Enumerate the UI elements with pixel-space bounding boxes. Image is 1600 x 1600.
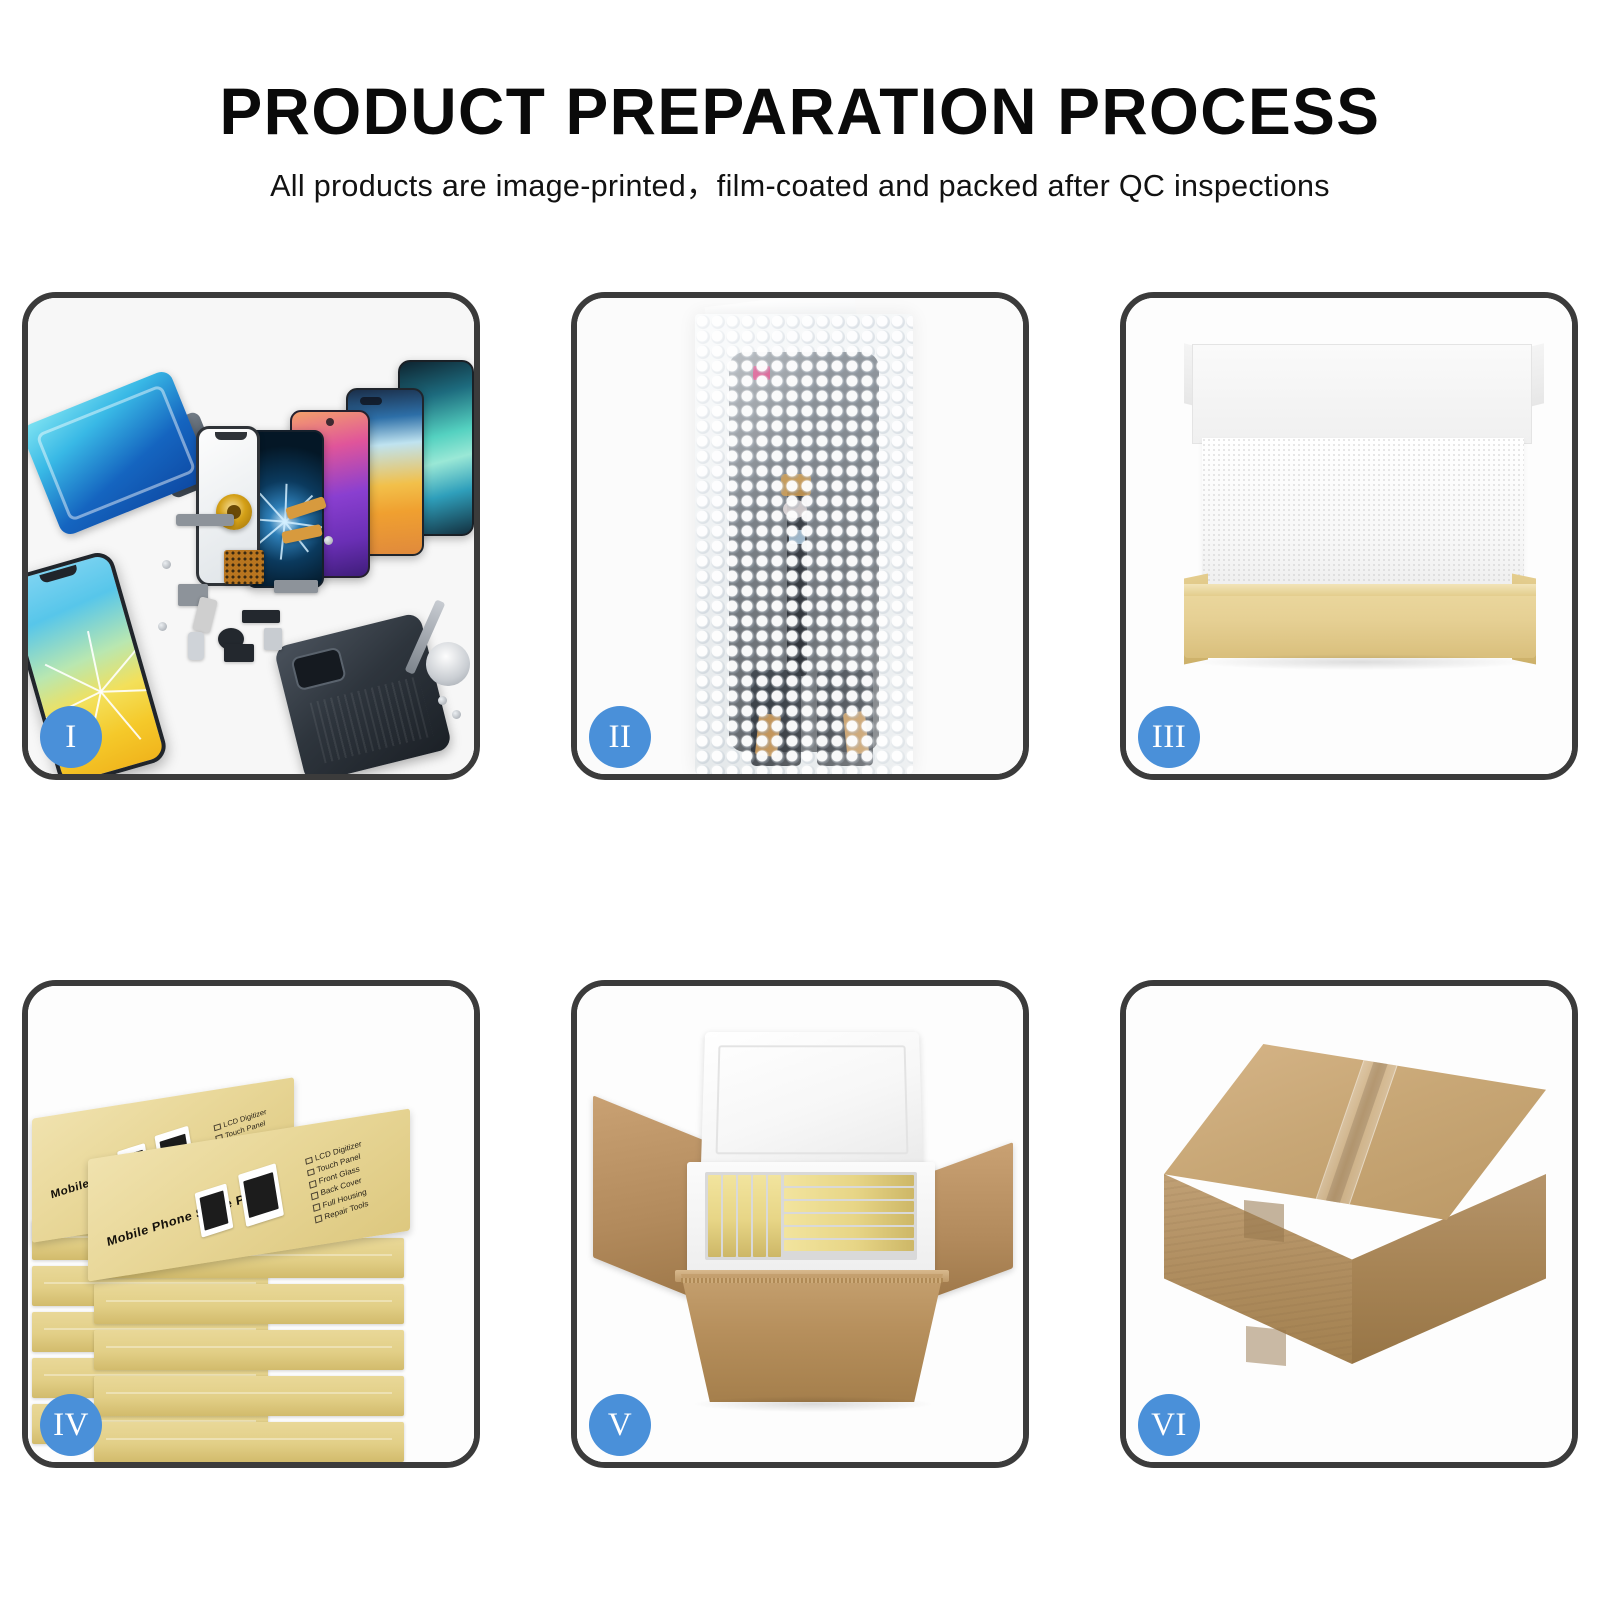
drop-shadow bbox=[695, 1396, 931, 1412]
packed-box bbox=[768, 1175, 781, 1257]
packed-box bbox=[784, 1240, 914, 1251]
step-badge-2: II bbox=[589, 706, 651, 768]
step-badge-6: VI bbox=[1138, 1394, 1200, 1456]
earpiece-speaker-part bbox=[176, 514, 234, 526]
panel-5-image bbox=[577, 986, 1023, 1462]
phone-thumbnail bbox=[238, 1163, 284, 1227]
plastic-sheen bbox=[695, 314, 913, 774]
sim-tray bbox=[188, 632, 204, 660]
adhesive-frame-sticker bbox=[28, 368, 212, 537]
retail-box-edge bbox=[94, 1330, 404, 1370]
screw bbox=[162, 560, 171, 569]
connector-part bbox=[264, 628, 282, 650]
packed-box bbox=[723, 1175, 736, 1257]
screw bbox=[158, 622, 167, 631]
kraft-box-rim bbox=[1184, 584, 1536, 596]
step-badge-1: I bbox=[40, 706, 102, 768]
packed-box bbox=[708, 1175, 721, 1257]
panel-4-image: Mobile Phone Spare Parts LCD Digitizer T… bbox=[28, 986, 474, 1462]
stacked-retail-boxes-illustration: Mobile Phone Spare Parts LCD Digitizer T… bbox=[28, 986, 474, 1462]
box-lid-back bbox=[1192, 344, 1532, 444]
crack-lines bbox=[285, 521, 286, 522]
process-step-panel-4[interactable]: Mobile Phone Spare Parts LCD Digitizer T… bbox=[22, 980, 480, 1468]
packed-boxes-vertical bbox=[708, 1175, 781, 1257]
corrugation-edge bbox=[681, 1278, 943, 1283]
packed-boxes-horizontal bbox=[784, 1175, 914, 1257]
bubble-wrapped-part-illustration bbox=[577, 298, 1023, 774]
packed-box bbox=[784, 1188, 914, 1199]
retail-box-edge bbox=[94, 1284, 404, 1324]
screw bbox=[438, 696, 447, 705]
packed-box bbox=[753, 1175, 766, 1257]
single-unit-box-illustration bbox=[1126, 298, 1572, 774]
process-steps-grid: I bbox=[22, 292, 1578, 1432]
header: PRODUCT PREPARATION PROCESS All products… bbox=[0, 78, 1600, 204]
panel-3-image bbox=[1126, 298, 1572, 774]
process-step-panel-6[interactable]: VI bbox=[1120, 980, 1578, 1468]
page-title: PRODUCT PREPARATION PROCESS bbox=[24, 78, 1576, 144]
bubble-wrap-bag bbox=[695, 314, 913, 774]
panel-6-image bbox=[1126, 986, 1572, 1462]
packed-box bbox=[784, 1175, 914, 1186]
carton-front-wall bbox=[681, 1274, 943, 1402]
vibration-motor bbox=[242, 610, 280, 623]
retail-box-checklist: LCD Digitizer Touch Panel Front Glass Ba… bbox=[305, 1138, 372, 1226]
step-badge-5: V bbox=[589, 1394, 651, 1456]
packed-boxes-group bbox=[705, 1172, 917, 1260]
packed-box bbox=[784, 1214, 914, 1225]
sealed-shipping-carton-illustration bbox=[1126, 986, 1572, 1462]
process-step-panel-1[interactable]: I bbox=[22, 292, 480, 780]
assorted-phone-parts-illustration bbox=[28, 298, 474, 774]
drop-shadow bbox=[1196, 654, 1526, 670]
step-badge-3: III bbox=[1138, 706, 1200, 768]
tape-tab-upper bbox=[1244, 1200, 1284, 1242]
page-subtitle: All products are image-printed，film-coat… bbox=[0, 170, 1600, 204]
panel-2-image bbox=[577, 298, 1023, 774]
taptic-engine bbox=[224, 644, 254, 662]
packing-tape bbox=[1164, 1044, 1546, 1220]
packed-box bbox=[784, 1227, 914, 1238]
infographic-page: PRODUCT PREPARATION PROCESS All products… bbox=[0, 0, 1600, 1600]
carton-with-foam-liner-illustration bbox=[577, 986, 1023, 1462]
packed-box bbox=[738, 1175, 751, 1257]
panel-1-image bbox=[28, 298, 474, 774]
process-step-panel-5[interactable]: V bbox=[571, 980, 1029, 1468]
step-badge-4: IV bbox=[40, 1394, 102, 1456]
logic-board-chip bbox=[224, 550, 264, 584]
retail-box-edge bbox=[94, 1376, 404, 1416]
screw bbox=[324, 536, 333, 545]
retail-box-edge bbox=[94, 1422, 404, 1462]
phone-thumbnail bbox=[195, 1183, 234, 1237]
packed-box bbox=[784, 1201, 914, 1212]
process-step-panel-3[interactable]: III bbox=[1120, 292, 1578, 780]
screw bbox=[452, 710, 461, 719]
tape-tab-lower bbox=[1246, 1326, 1286, 1366]
foam-texture bbox=[1202, 438, 1524, 586]
process-step-panel-2[interactable]: II bbox=[571, 292, 1029, 780]
volume-button-flex bbox=[274, 580, 318, 593]
styrofoam-lid bbox=[701, 1032, 923, 1169]
